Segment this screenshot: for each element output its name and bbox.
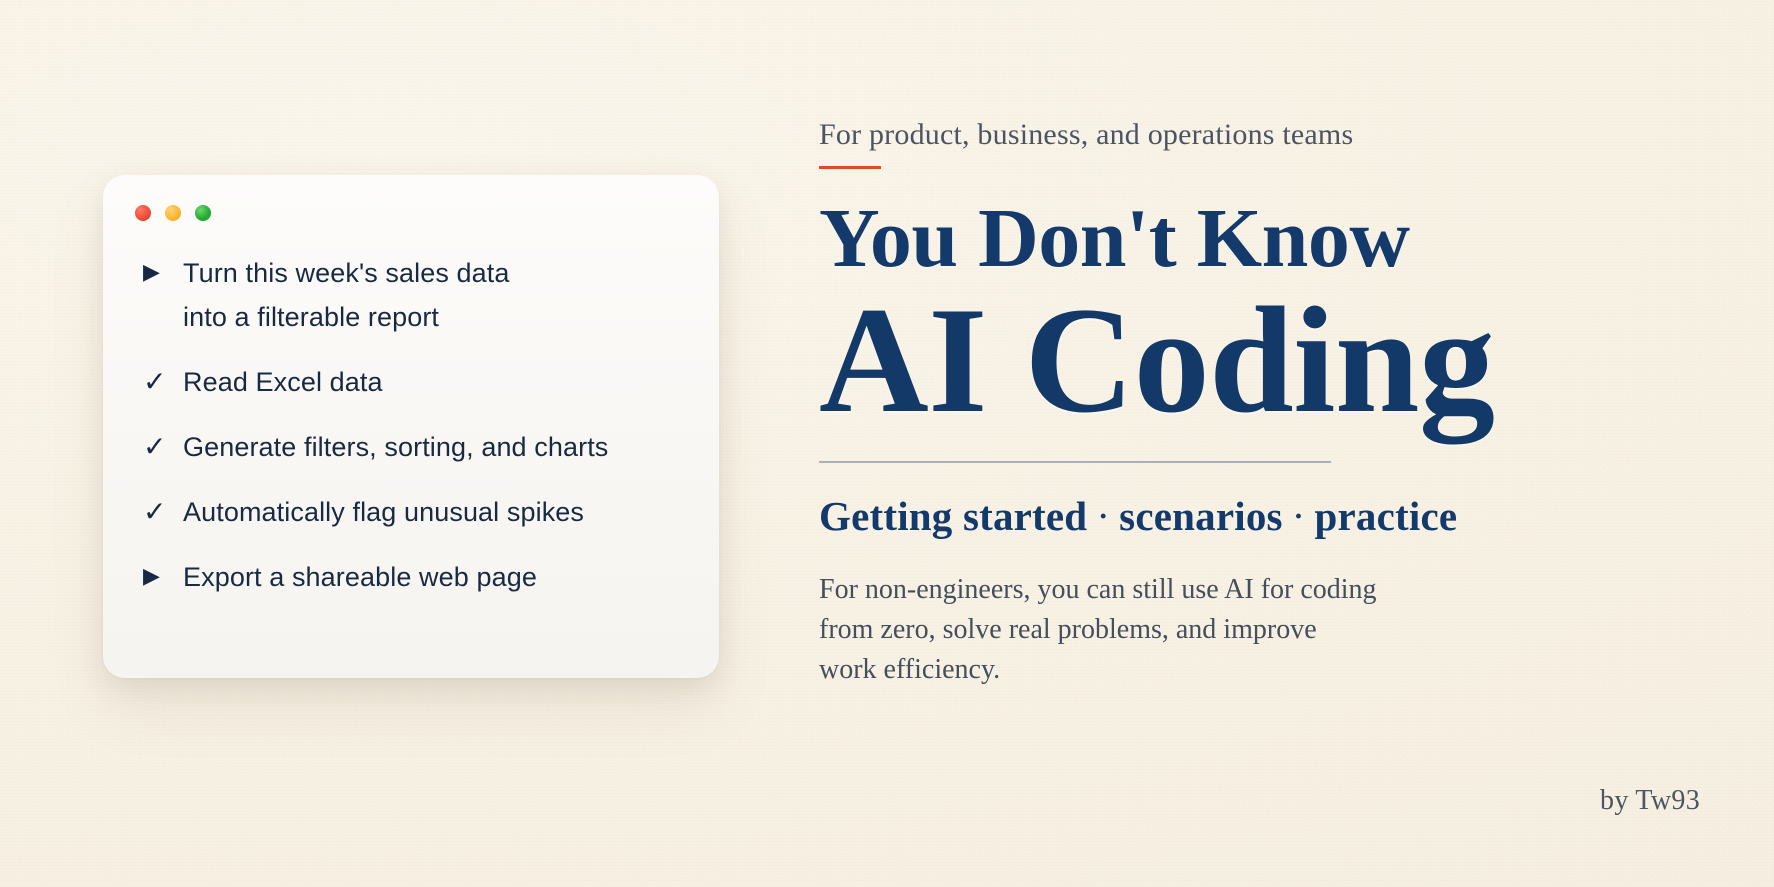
prompt-step-list: ▶ Turn this week's sales data into a fil… [139, 251, 699, 599]
list-item: ✓ Automatically flag unusual spikes [139, 490, 699, 534]
page-title: You Don't Know AI Coding [819, 199, 1699, 440]
prompt-card: ▶ Turn this week's sales data into a fil… [103, 175, 719, 678]
subtitle-topics: Getting started·scenarios·practice [819, 493, 1699, 540]
maximize-button[interactable] [195, 205, 211, 221]
body-paragraph: For non-engineers, you can still use AI … [819, 570, 1519, 689]
list-item-label: Turn this week's sales data into a filte… [183, 251, 510, 339]
topic-scenarios: scenarios [1119, 493, 1283, 539]
list-item-label: Read Excel data [183, 360, 383, 404]
topic-separator: · [1087, 493, 1119, 539]
list-item-label: Automatically flag unusual spikes [183, 490, 584, 534]
author-byline: by Tw93 [1600, 785, 1700, 817]
list-item: ✓ Generate filters, sorting, and charts [139, 425, 699, 469]
headline-line-1: You Don't Know [819, 199, 1699, 280]
list-item: ✓ Read Excel data [139, 360, 699, 404]
divider-rule [819, 461, 1331, 463]
eyebrow-text: For product, business, and operations te… [819, 118, 1699, 153]
topic-separator: · [1283, 493, 1315, 539]
list-item-label: Export a shareable web page [183, 555, 537, 599]
check-icon: ✓ [139, 425, 183, 469]
minimize-button[interactable] [165, 205, 181, 221]
close-button[interactable] [135, 205, 151, 221]
check-icon: ✓ [139, 360, 183, 404]
check-icon: ✓ [139, 490, 183, 534]
list-item: ▶ Turn this week's sales data into a fil… [139, 251, 699, 339]
headline-line-2: AI Coding [819, 281, 1699, 439]
window-controls [135, 205, 211, 221]
topic-getting-started: Getting started [819, 493, 1087, 539]
list-item: ▶ Export a shareable web page [139, 555, 699, 599]
list-item-label: Generate filters, sorting, and charts [183, 425, 608, 469]
play-triangle-icon: ▶ [139, 251, 183, 295]
play-triangle-icon: ▶ [139, 555, 183, 599]
eyebrow-accent-rule [819, 166, 881, 169]
topic-practice: practice [1315, 493, 1458, 539]
editorial-column: For product, business, and operations te… [819, 118, 1699, 690]
poster-canvas: ▶ Turn this week's sales data into a fil… [0, 0, 1774, 887]
